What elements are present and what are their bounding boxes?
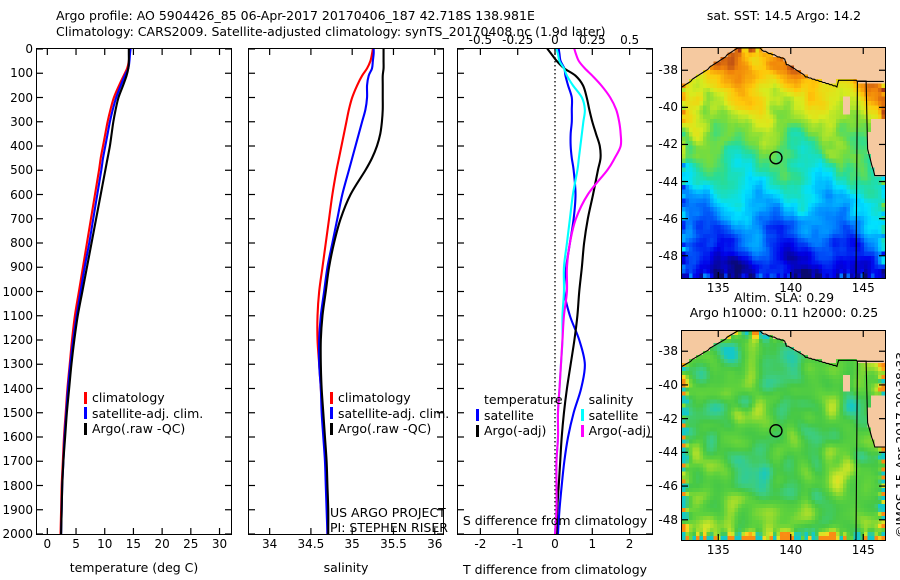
- map-lat-label--38: -38: [658, 344, 678, 358]
- legend-swatch-0-1: [476, 425, 479, 437]
- imos-credit: ©IMOS 15-Apr-2017 20:38:33: [893, 352, 900, 538]
- map-lat-label--40: -40: [658, 378, 678, 392]
- depth-tick-label-1100: 1100: [2, 309, 33, 323]
- argo-note-line-0: US ARGO PROJECT: [330, 505, 448, 520]
- sla-map-panel[interactable]: 135140145-38-40-42-44-46-48: [681, 330, 886, 541]
- map-lat-label--46: -46: [658, 212, 678, 226]
- legend-label-1: satellite-adj. clim.: [92, 406, 203, 422]
- salinity-profile-plot: [249, 49, 443, 534]
- x-top-tick-label-0.5: 0.5: [620, 33, 639, 47]
- depth-tick-label-100: 100: [10, 66, 33, 80]
- map-lon-label-145: 145: [852, 543, 875, 557]
- sla-map-title-line2: Argo h1000: 0.11 h2000: 0.25: [690, 305, 879, 320]
- legend-label-2: Argo(.raw -QC): [92, 421, 185, 437]
- difference-profile-panel: -2-1012-0.5-0.2500.250.5: [457, 48, 653, 535]
- x-top-tick-label-0.25: 0.25: [579, 33, 606, 47]
- legend-label-0: climatology: [338, 390, 411, 406]
- legend-item: satellite-adj. clim.: [330, 406, 449, 422]
- legend-group-salinity: salinitysatelliteArgo(-adj): [581, 392, 651, 439]
- legend-item: satellite-adj. clim.: [84, 406, 203, 422]
- x-tick-label-2: 2: [626, 537, 634, 551]
- x-tick-label-34.5: 34.5: [298, 537, 325, 551]
- depth-tick-label-1900: 1900: [2, 503, 33, 517]
- depth-tick-label-700: 700: [10, 212, 33, 226]
- x-tick-label--1: -1: [512, 537, 524, 551]
- legend-swatch-0: [330, 392, 333, 404]
- legend-swatch-2: [330, 423, 333, 435]
- x-tick-label-36: 36: [427, 537, 442, 551]
- map-lat-label--42: -42: [658, 137, 678, 151]
- legend-item: climatology: [330, 390, 449, 406]
- x-top-tick-label--0.5: -0.5: [469, 33, 492, 47]
- legend-swatch-1: [330, 407, 333, 419]
- legend-label-0-0: satellite: [484, 408, 534, 424]
- depth-tick-label-0: 0: [25, 42, 33, 56]
- sst-map-image[interactable]: [682, 48, 885, 278]
- sst-map-title: sat. SST: 14.5 Argo: 14.2: [707, 8, 861, 23]
- legend-label-0: climatology: [92, 390, 165, 406]
- legend-swatch-1: [84, 407, 87, 419]
- x-tick-label-0: 0: [551, 537, 559, 551]
- legend-item: Argo(.raw -QC): [330, 421, 449, 437]
- argo-project-note: US ARGO PROJECTPI: STEPHEN RISER: [330, 505, 448, 535]
- map-lat-label--40: -40: [658, 100, 678, 114]
- header-line-1: Argo profile: AO 5904426_85 06-Apr-2017 …: [56, 8, 606, 24]
- map-lon-label-135: 135: [707, 543, 730, 557]
- depth-tick-label-1000: 1000: [2, 285, 33, 299]
- legend-swatch-0-0: [476, 409, 479, 421]
- depth-tick-label-1400: 1400: [2, 382, 33, 396]
- x-top-tick-label-0: 0: [551, 33, 559, 47]
- difference-legend: temperaturesatelliteArgo(-adj)salinitysa…: [476, 392, 651, 439]
- map-lat-label--46: -46: [658, 479, 678, 493]
- depth-tick-label-1600: 1600: [2, 430, 33, 444]
- map-lat-label--42: -42: [658, 412, 678, 426]
- x-tick-label-35: 35: [345, 537, 360, 551]
- depth-tick-label-1500: 1500: [2, 406, 33, 420]
- depth-tick-label-800: 800: [10, 236, 33, 250]
- x-tick-label-15: 15: [126, 537, 141, 551]
- legend-label-0-1: Argo(-adj): [484, 423, 546, 439]
- x-tick-label-35.5: 35.5: [380, 537, 407, 551]
- legend-label-1-0: satellite: [589, 408, 639, 424]
- legend-item: Argo(-adj): [581, 423, 651, 439]
- x-top-tick-label--0.25: -0.25: [502, 33, 533, 47]
- depth-tick-label-400: 400: [10, 139, 33, 153]
- map-lat-label--38: -38: [658, 63, 678, 77]
- legend-swatch-2: [84, 423, 87, 435]
- x-tick-label-25: 25: [183, 537, 198, 551]
- temperature-profile-panel: 0100200300400500600700800900100011001200…: [36, 48, 232, 535]
- depth-tick-label-600: 600: [10, 188, 33, 202]
- depth-tick-label-200: 200: [10, 91, 33, 105]
- difference-top-axis-title: S difference from climatology: [463, 513, 647, 528]
- legend-swatch-0: [84, 392, 87, 404]
- x-tick-label--2: -2: [474, 537, 486, 551]
- depth-tick-label-1700: 1700: [2, 454, 33, 468]
- x-tick-label-1: 1: [588, 537, 596, 551]
- depth-tick-label-500: 500: [10, 163, 33, 177]
- difference-profile-plot: [458, 49, 652, 534]
- sla-map-title-line1: Altim. SLA: 0.29: [734, 290, 834, 305]
- sst-map-panel[interactable]: 135140145-38-40-42-44-46-48: [681, 47, 886, 279]
- map-lat-label--48: -48: [658, 249, 678, 263]
- temperature-axis-title: temperature (deg C): [70, 560, 199, 575]
- difference-bottom-axis-title: T difference from climatology: [463, 562, 647, 577]
- map-lat-label--48: -48: [658, 513, 678, 527]
- x-tick-label-5: 5: [72, 537, 80, 551]
- legend-item: satellite: [581, 408, 651, 424]
- temperature-profile-plot: [37, 49, 231, 534]
- sla-map-image[interactable]: [682, 331, 885, 540]
- salinity-axis-title: salinity: [324, 560, 369, 575]
- x-tick-label-10: 10: [97, 537, 112, 551]
- map-lon-label-135: 135: [707, 281, 730, 295]
- depth-tick-label-300: 300: [10, 115, 33, 129]
- depth-tick-label-1300: 1300: [2, 357, 33, 371]
- legend-item: Argo(-adj): [476, 423, 563, 439]
- legend-item: satellite: [476, 408, 563, 424]
- salinity-legend: climatologysatellite-adj. clim.Argo(.raw…: [330, 390, 449, 437]
- legend-group-title: salinity: [589, 392, 651, 408]
- legend-label-1: satellite-adj. clim.: [338, 406, 449, 422]
- depth-tick-label-2000: 2000: [2, 527, 33, 541]
- legend-group-title: temperature: [484, 392, 563, 408]
- x-tick-label-0: 0: [44, 537, 52, 551]
- legend-label-1-1: Argo(-adj): [589, 423, 651, 439]
- legend-group-temperature: temperaturesatelliteArgo(-adj): [476, 392, 563, 439]
- map-lat-label--44: -44: [658, 445, 678, 459]
- legend-item: climatology: [84, 390, 203, 406]
- x-tick-label-20: 20: [154, 537, 169, 551]
- map-lon-label-140: 140: [779, 543, 802, 557]
- legend-label-2: Argo(.raw -QC): [338, 421, 431, 437]
- depth-tick-label-1200: 1200: [2, 333, 33, 347]
- map-lat-label--44: -44: [658, 175, 678, 189]
- temperature-legend: climatologysatellite-adj. clim.Argo(.raw…: [84, 390, 203, 437]
- salinity-profile-panel: 3434.53535.536: [248, 48, 444, 535]
- argo-note-line-1: PI: STEPHEN RISER: [330, 520, 448, 535]
- depth-tick-label-900: 900: [10, 260, 33, 274]
- x-tick-label-34: 34: [262, 537, 277, 551]
- x-tick-label-30: 30: [212, 537, 227, 551]
- depth-tick-label-1800: 1800: [2, 479, 33, 493]
- map-lon-label-145: 145: [852, 281, 875, 295]
- legend-swatch-1-1: [581, 425, 584, 437]
- legend-swatch-1-0: [581, 409, 584, 421]
- legend-item: Argo(.raw -QC): [84, 421, 203, 437]
